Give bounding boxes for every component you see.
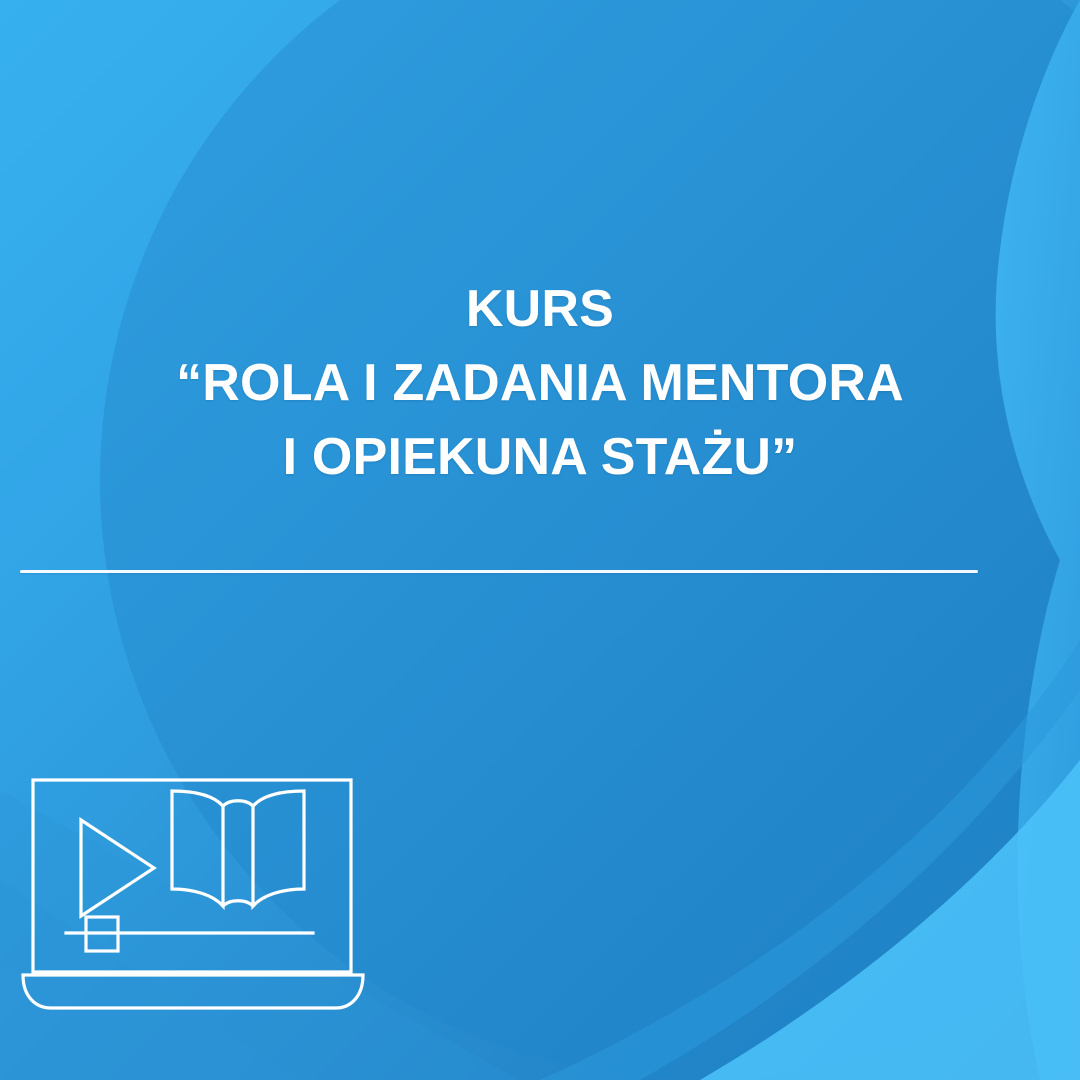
play-triangle-icon <box>81 820 154 916</box>
background-blob-right <box>996 0 1080 1080</box>
open-book-spine <box>223 801 253 806</box>
divider-line <box>20 570 978 573</box>
open-book-right-page <box>253 791 304 906</box>
background-band-medium <box>540 640 1080 1080</box>
background-corner-bright <box>700 760 1080 1080</box>
title-line-3: I OPIEKUNA STAŻU” <box>40 420 1040 494</box>
title-block: KURS “ROLA I ZADANIA MENTORA I OPIEKUNA … <box>0 272 1080 494</box>
laptop-base <box>23 975 363 1008</box>
e-learning-laptop-icon <box>18 765 378 1015</box>
open-book-left-page <box>172 791 223 906</box>
title-line-2: “ROLA I ZADANIA MENTORA <box>40 346 1040 420</box>
title-line-1: KURS <box>40 272 1040 346</box>
open-book-spine-bottom <box>223 901 253 906</box>
slide-canvas: KURS “ROLA I ZADANIA MENTORA I OPIEKUNA … <box>0 0 1080 1080</box>
